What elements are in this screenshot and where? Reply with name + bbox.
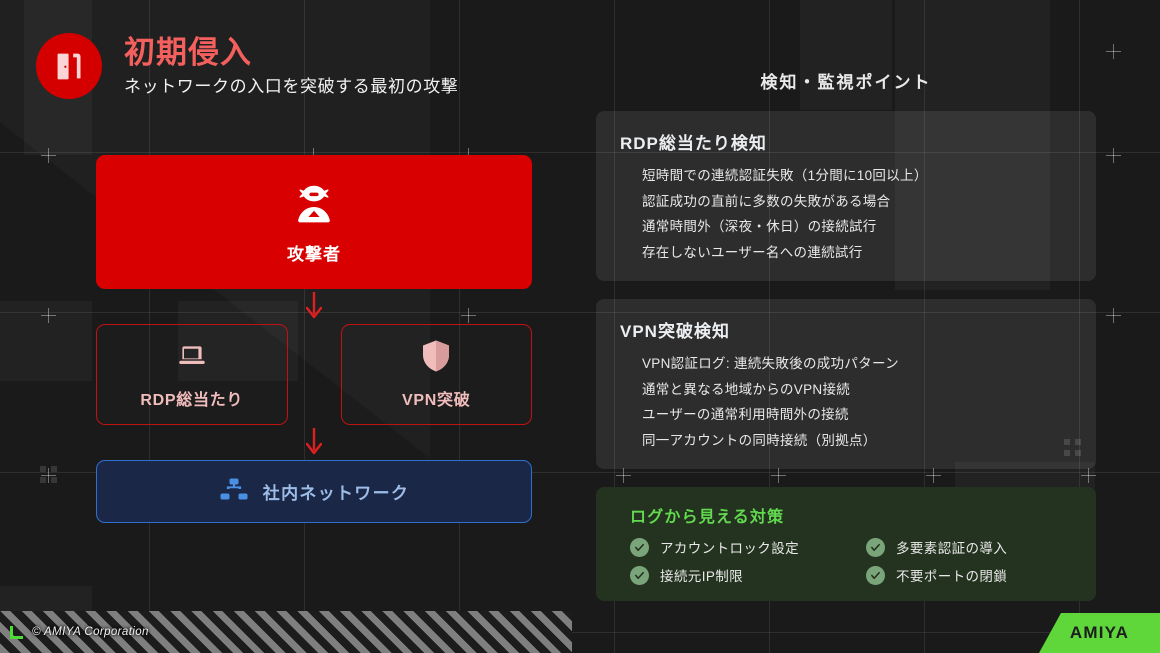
check-circle-icon <box>866 566 885 585</box>
page-subtitle: ネットワークの入口を突破する最初の攻撃 <box>124 77 458 97</box>
brand-label: AMIYA <box>1070 623 1129 643</box>
countermeasure-item: 不要ポートの閉鎖 <box>866 565 1074 585</box>
list-item: 同一アカウントの同時接続（別拠点） <box>642 428 1072 454</box>
flow-node-network-label: 社内ネットワーク <box>263 479 409 504</box>
decoration-dots-left <box>40 466 60 486</box>
network-sitemap-icon <box>219 474 249 509</box>
door-open-icon <box>36 33 102 99</box>
detection-card-rdp-list: 短時間での連続認証失敗（1分間に10回以上） 認証成功の直前に多数の失敗がある場… <box>620 163 1072 265</box>
flow-branch-row: RDP総当たり VPN突破 <box>96 324 532 425</box>
countermeasure-label: アカウントロック設定 <box>660 537 799 557</box>
list-item: 通常と異なる地域からのVPN接続 <box>642 377 1072 403</box>
attack-flow-diagram: 攻撃者 RDP総当たり <box>96 155 532 523</box>
slide-header: 初期侵入 ネットワークの入口を突破する最初の攻撃 <box>36 33 458 99</box>
detection-panel-title: 検知・監視ポイント <box>596 68 1096 93</box>
detection-card-rdp-heading: RDP総当たり検知 <box>620 129 1072 154</box>
flow-node-attacker[interactable]: 攻撃者 <box>96 155 532 289</box>
check-circle-icon <box>630 538 649 557</box>
slide-root: 初期侵入 ネットワークの入口を突破する最初の攻撃 攻撃者 <box>0 0 1160 653</box>
shield-icon <box>420 340 452 377</box>
flow-arrow-1 <box>96 289 532 324</box>
flow-arrow-2 <box>96 425 532 460</box>
flow-node-rdp-label: RDP総当たり <box>140 386 243 410</box>
countermeasure-label: 不要ポートの閉鎖 <box>896 565 1007 585</box>
countermeasures-card: ログから見える対策 アカウントロック設定 多要素認証の導入 <box>596 487 1096 601</box>
list-item: 認証成功の直前に多数の失敗がある場合 <box>642 189 1072 215</box>
countermeasure-label: 接続元IP制限 <box>660 565 743 585</box>
countermeasures-heading: ログから見える対策 <box>630 503 1074 527</box>
detection-card-vpn-list: VPN認証ログ: 連続失敗後の成功パターン 通常と異なる地域からのVPN接続 ユ… <box>620 351 1072 453</box>
list-item: 存在しないユーザー名への連続試行 <box>642 240 1072 266</box>
corner-mark-icon <box>10 626 23 639</box>
flow-node-attacker-label: 攻撃者 <box>287 240 341 265</box>
countermeasure-item: 接続元IP制限 <box>630 565 838 585</box>
check-circle-icon <box>630 566 649 585</box>
flow-node-internal-network[interactable]: 社内ネットワーク <box>96 460 532 523</box>
detection-panel: 検知・監視ポイント RDP総当たり検知 短時間での連続認証失敗（1分間に10回以… <box>596 68 1096 601</box>
copyright-text: © AMIYA Corporation <box>32 626 149 638</box>
countermeasure-item: アカウントロック設定 <box>630 537 838 557</box>
check-circle-icon <box>866 538 885 557</box>
flow-node-rdp-bruteforce[interactable]: RDP総当たり <box>96 324 288 425</box>
list-item: 短時間での連続認証失敗（1分間に10回以上） <box>642 163 1072 189</box>
footer-bar: © AMIYA Corporation <box>0 611 572 653</box>
detection-card-vpn-heading: VPN突破検知 <box>620 317 1072 342</box>
list-item: 通常時間外（深夜・休日）の接続試行 <box>642 214 1072 240</box>
list-item: VPN認証ログ: 連続失敗後の成功パターン <box>642 351 1072 377</box>
page-title: 初期侵入 <box>124 35 458 71</box>
list-item: ユーザーの通常利用時間外の接続 <box>642 402 1072 428</box>
decoration-dots-card <box>1064 439 1084 459</box>
user-secret-icon <box>291 180 337 231</box>
flow-node-vpn-label: VPN突破 <box>402 386 470 410</box>
countermeasures-grid: アカウントロック設定 多要素認証の導入 接続元IP制限 <box>630 537 1074 585</box>
flow-node-vpn-breach[interactable]: VPN突破 <box>341 324 533 425</box>
countermeasure-label: 多要素認証の導入 <box>896 537 1007 557</box>
detection-card-vpn: VPN突破検知 VPN認証ログ: 連続失敗後の成功パターン 通常と異なる地域から… <box>596 299 1096 469</box>
countermeasure-item: 多要素認証の導入 <box>866 537 1074 557</box>
detection-card-rdp: RDP総当たり検知 短時間での連続認証失敗（1分間に10回以上） 認証成功の直前… <box>596 111 1096 281</box>
brand-badge: AMIYA <box>1039 613 1160 653</box>
laptop-icon <box>176 340 208 377</box>
